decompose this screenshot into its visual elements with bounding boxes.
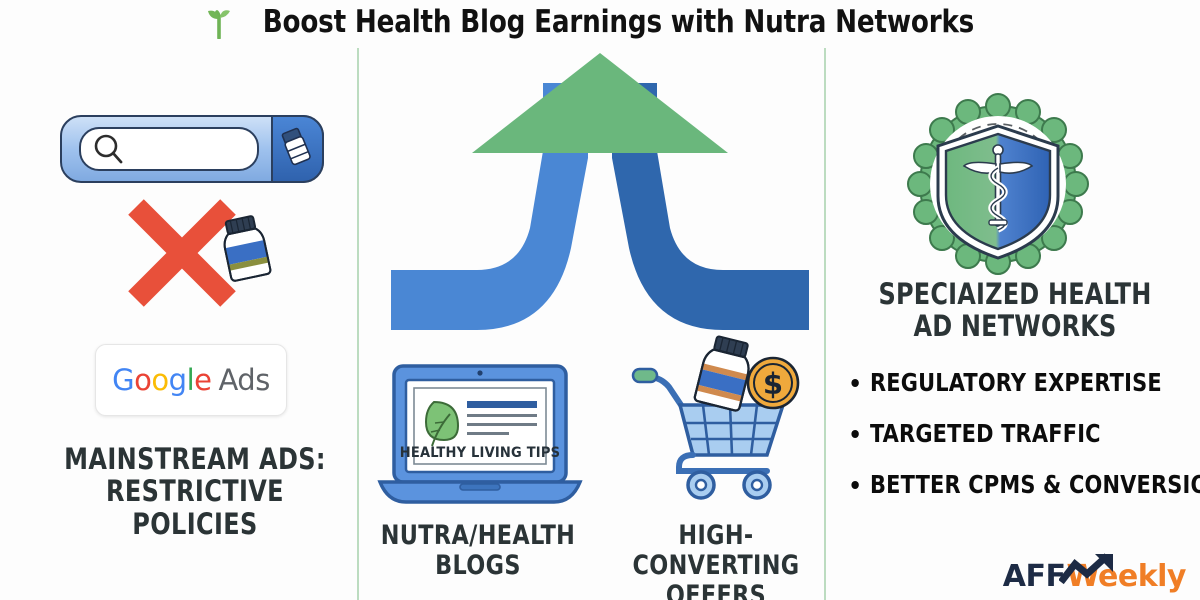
coin-symbol: $ — [763, 367, 783, 401]
caption-nutra-health-blogs: NUTRA/HEALTH BLOGS — [379, 521, 578, 581]
list-item: TARGETED TRAFFIC — [870, 419, 1196, 448]
growth-arrow-icon — [1059, 552, 1121, 586]
divider-right — [824, 48, 826, 600]
list-item: BETTER CPMS & CONVERSIONS — [870, 470, 1196, 499]
dollar-coin-icon: $ — [748, 358, 798, 408]
arrow-head — [472, 53, 728, 153]
caption-mainstream-ads: MAINSTREAM ADS: RESTRICTIVE POLICIES — [43, 443, 347, 540]
medical-seal-badge-icon — [900, 92, 1096, 278]
brand-prefix: AFF — [1003, 562, 1066, 592]
arrow-arm-right — [612, 151, 809, 330]
google-ads-logo-card: GoogleAds — [95, 344, 287, 416]
benefits-list: REGULATORY EXPERTISE TARGETED TRAFFIC BE… — [846, 368, 1200, 521]
divider-left — [357, 48, 359, 600]
laptop-icon: HEALTHY LIVING TIPS — [372, 358, 588, 510]
title-text: Boost Health Blog Earnings with Nutra Ne… — [262, 4, 973, 40]
infographic-canvas: Boost Health Blog Earnings with Nutra Ne… — [0, 0, 1200, 600]
google-ads-suffix: Ads — [218, 363, 269, 397]
google-ads-logo: GoogleAds — [112, 363, 270, 397]
search-bar-illustration — [58, 112, 328, 188]
cart-handle-grip — [633, 369, 657, 382]
shopping-cart-icon: $ — [625, 333, 821, 509]
supplement-bottle-icon — [694, 334, 755, 411]
caption-specialized-networks: SPECIAIZED HEALTH AD NETWORKS — [863, 278, 1167, 343]
cross-icon — [136, 207, 228, 299]
blocked-illustration — [122, 195, 292, 315]
merging-up-arrow-icon — [385, 48, 815, 338]
sprout-icon — [204, 5, 234, 39]
page-title: Boost Health Blog Earnings with Nutra Ne… — [0, 4, 1200, 40]
brand-logo[interactable]: AFF Weekly — [1003, 562, 1186, 592]
arrow-arm-left — [391, 151, 588, 330]
laptop-screen-text: HEALTHY LIVING TIPS — [400, 445, 560, 461]
list-item: REGULATORY EXPERTISE — [870, 368, 1196, 397]
search-input-field — [80, 128, 258, 170]
supplement-bottle-icon — [220, 215, 272, 282]
caption-high-converting-offers: HIGH-CONVERTING OFFERS — [609, 521, 822, 600]
